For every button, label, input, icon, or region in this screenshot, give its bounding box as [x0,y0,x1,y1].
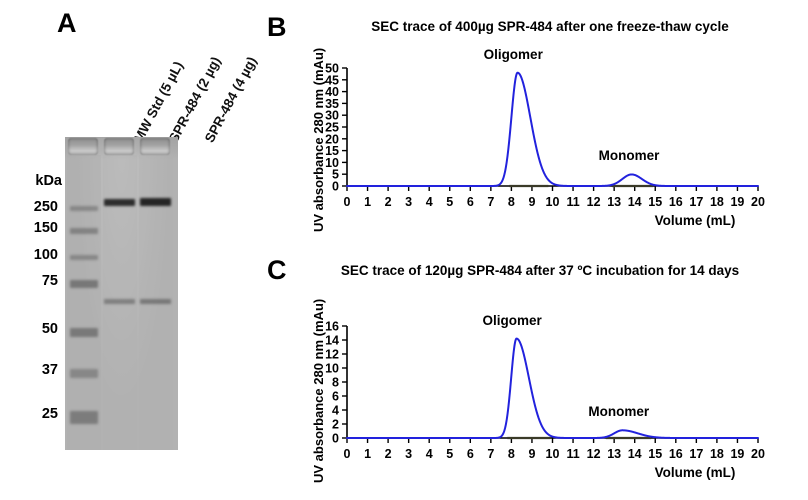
panel-b-letter: B [267,14,287,41]
x-tick-label: 12 [587,447,601,461]
gel-well-2 [140,138,170,155]
x-tick-label: 16 [669,447,683,461]
gel-mw-marker-37: 37 [10,362,58,378]
gel-well-1 [104,138,134,155]
x-tick-label: 4 [426,195,433,209]
x-tick-label: 6 [467,447,474,461]
y-tick-label: 2 [332,418,339,432]
panel-c-ylabel: UV absorbance 280 nm (mAu) [311,299,326,483]
x-tick-label: 18 [710,195,724,209]
x-tick-label: 11 [566,195,579,209]
x-tick-label: 12 [587,195,601,209]
gel-mw-marker-50: 50 [10,321,58,337]
x-tick-label: 19 [730,447,744,461]
peak-label-oligomer: Oligomer [483,313,542,328]
x-tick-label: 19 [730,195,744,209]
gel-lane-0 [67,155,101,450]
x-tick-label: 9 [528,195,535,209]
gel-ladder-band [70,255,98,260]
gel-ladder-band [70,228,98,234]
x-tick-label: 5 [446,447,453,461]
panel-c-xlabel: Volume (mL) [595,465,795,480]
x-tick-label: 10 [546,447,560,461]
x-tick-label: 3 [405,447,412,461]
panel-b-ylabel: UV absorbance 280 nm (mAu) [311,48,326,232]
panel-c-letter: C [267,257,287,284]
gel-mw-marker-250: 250 [10,199,58,215]
x-tick-label: 1 [364,195,371,209]
x-tick-label: 7 [487,195,494,209]
x-tick-label: 11 [566,447,579,461]
x-tick-label: 10 [546,195,560,209]
x-tick-label: 5 [446,195,453,209]
gel-image [65,137,178,450]
x-tick-label: 13 [607,447,621,461]
x-tick-label: 8 [508,447,515,461]
gel-ladder-band [70,280,98,288]
x-tick-label: 0 [344,447,351,461]
x-tick-label: 17 [689,447,703,461]
x-tick-label: 17 [689,195,703,209]
panel-b-chart: B SEC trace of 400µg SPR-484 after one f… [265,0,808,243]
peak-label-monomer: Monomer [599,148,660,163]
gel-sample-band [104,299,135,304]
panel-b-xlabel: Volume (mL) [595,213,795,228]
x-tick-label: 1 [364,447,371,461]
x-tick-label: 9 [528,447,535,461]
x-tick-label: 14 [628,447,642,461]
gel-ladder-band [70,369,98,378]
gel-ladder-band [70,411,98,424]
panel-b-title: SEC trace of 400µg SPR-484 after one fre… [310,19,790,36]
y-tick-label: 8 [332,376,339,390]
x-tick-label: 4 [426,447,433,461]
y-tick-label: 4 [332,404,339,418]
gel-well-0 [68,138,98,155]
x-tick-label: 15 [648,447,662,461]
x-tick-label: 13 [607,195,621,209]
x-tick-label: 14 [628,195,642,209]
gel-sample-band [104,199,135,206]
gel-sample-band [140,299,171,304]
x-tick-label: 2 [385,195,392,209]
gel-mw-marker-75: 75 [10,273,58,289]
sec-trace-line [347,339,758,438]
peak-label-oligomer: Oligomer [484,47,543,62]
gel-mw-marker-100: 100 [10,247,58,263]
x-tick-label: 20 [751,447,765,461]
gel-mw-marker-150: 150 [10,220,58,236]
gel-lane-labels: MW Std (5 µL) SPR-484 (2 µg) SPR-484 (4 … [60,5,260,135]
y-tick-label: 50 [325,62,339,76]
x-tick-label: 18 [710,447,724,461]
panel-c-title: SEC trace of 120µg SPR-484 after 37 ºC i… [310,263,770,280]
x-tick-label: 7 [487,447,494,461]
x-tick-label: 15 [648,195,662,209]
x-tick-label: 2 [385,447,392,461]
x-tick-label: 20 [751,195,765,209]
gel-sample-band [140,198,171,206]
gel-ladder-band [70,328,98,337]
gel-mw-marker-25: 25 [10,406,58,422]
y-tick-label: 0 [332,432,339,446]
panel-b-plot: 0510152025303540455001234567891011121314… [265,0,808,243]
sec-trace-line [347,73,758,186]
panel-c-chart: C SEC trace of 120µg SPR-484 after 37 ºC… [265,243,808,500]
gel-ladder-band [70,206,98,211]
gel-unit-label: kDa [14,173,62,189]
peak-label-monomer: Monomer [588,404,649,419]
x-tick-label: 6 [467,195,474,209]
y-tick-label: 16 [325,320,339,334]
x-tick-label: 16 [669,195,683,209]
x-tick-label: 8 [508,195,515,209]
panel-c-plot: 0246810121416012345678910111213141516171… [265,243,808,500]
x-tick-label: 0 [344,195,351,209]
panel-a-gel: A MW Std (5 µL) SPR-484 (2 µg) SPR-484 (… [0,0,265,500]
y-tick-label: 10 [325,362,339,376]
x-tick-label: 3 [405,195,412,209]
y-tick-label: 12 [325,348,339,362]
y-tick-label: 6 [332,390,339,404]
y-tick-label: 14 [325,334,339,348]
